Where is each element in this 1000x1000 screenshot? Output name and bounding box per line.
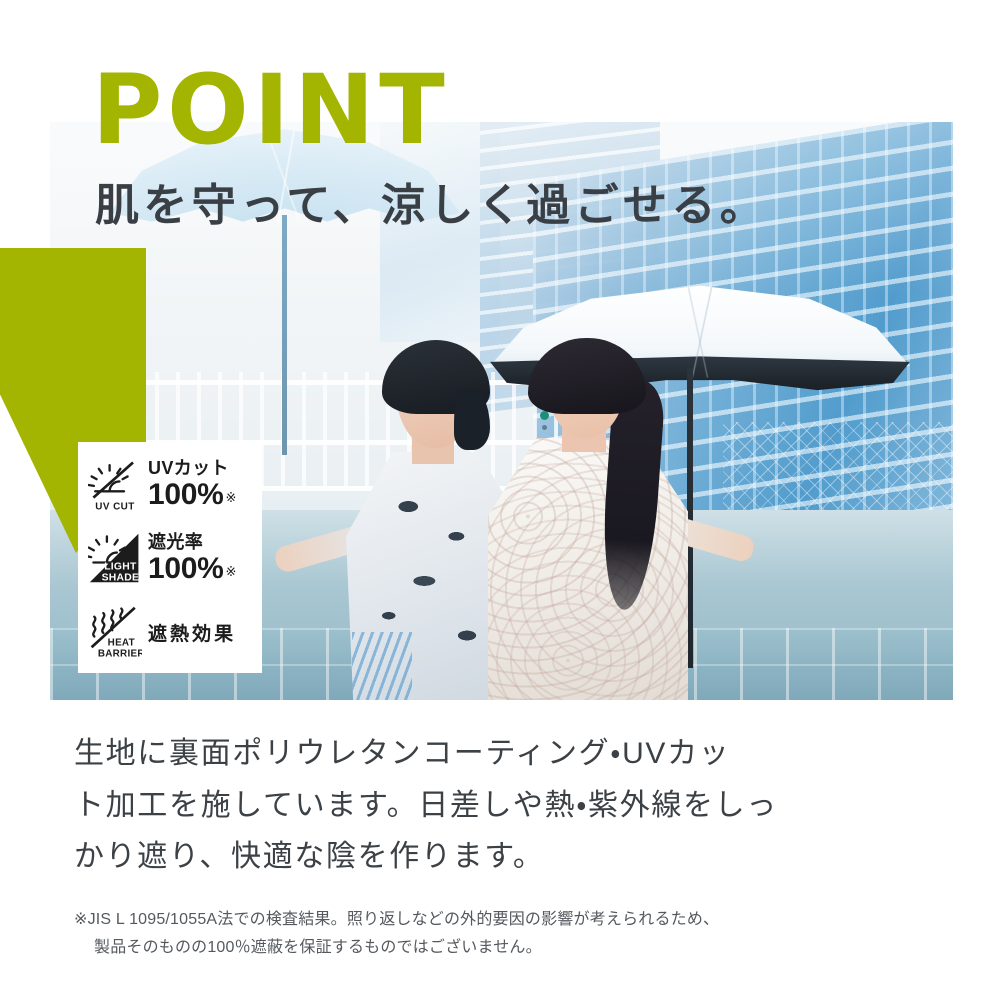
svg-text:LIGHT: LIGHT (104, 562, 137, 573)
badge-title: 遮熱効果 (148, 619, 236, 646)
badge-heat-barrier-text: 遮熱効果 (148, 619, 236, 646)
umbrella-shaft (282, 215, 287, 455)
feature-badge-card: UV CUT UVカット 100%※ (78, 442, 262, 673)
person-right (480, 340, 695, 700)
sun-uv-cut-icon: UV CUT (88, 457, 142, 513)
body-line-3: かり遮り、快適な陰を作ります。 (74, 831, 944, 883)
badge-uv-cut: UV CUT UVカット 100%※ (78, 450, 262, 520)
badge-uv-cut-text: UVカット 100%※ (148, 459, 236, 510)
person-right-earring (540, 411, 549, 420)
badge-value: 100%※ (148, 479, 236, 511)
body-line-1: 生地に裏面ポリウレタンコーティング・UVカッ (74, 728, 944, 780)
badge-footnote-mark: ※ (226, 564, 237, 579)
product-feature-page: POINT 肌を守って、涼しく過ごせる。 U (0, 0, 1000, 1000)
footnote-line-1: ※JIS L 1095/1055A法での検査結果。照り返しなどの外的要因の影響が… (74, 906, 964, 934)
badge-heat-barrier: HEAT BARRIER 遮熱効果 (78, 597, 262, 667)
badge-footnote-mark: ※ (226, 490, 237, 505)
badge-light-shade-text: 遮光率 100%※ (148, 533, 236, 584)
badge-title: UVカット (148, 459, 236, 479)
sun-light-shade-icon: LIGHT SHADE (88, 530, 142, 586)
badge-light-shade: LIGHT SHADE 遮光率 100%※ (78, 523, 262, 593)
body-line-2: ト加工を施しています。日差しや熱・紫外線をしっ (74, 780, 944, 832)
svg-text:UV CUT: UV CUT (95, 501, 134, 512)
footnote-line-2: 製品そのものの100％遮蔽を保証するものではございません。 (74, 934, 964, 962)
page-title: 肌を守って、涼しく過ごせる。 (95, 178, 768, 233)
body-paragraph: 生地に裏面ポリウレタンコーティング・UVカッ ト加工を施しています。日差しや熱・… (74, 728, 944, 883)
footnote-disclaimer: ※JIS L 1095/1055A法での検査結果。照り返しなどの外的要因の影響が… (74, 906, 964, 963)
svg-text:SHADE: SHADE (102, 573, 140, 584)
svg-text:HEAT: HEAT (108, 638, 135, 649)
svg-text:BARRIER: BARRIER (98, 648, 142, 659)
person-right-hair (528, 338, 646, 414)
badge-title: 遮光率 (148, 533, 236, 553)
heat-barrier-icon: HEAT BARRIER (88, 604, 142, 660)
badge-value: 100%※ (148, 553, 236, 585)
page-eyebrow: POINT (92, 62, 450, 158)
